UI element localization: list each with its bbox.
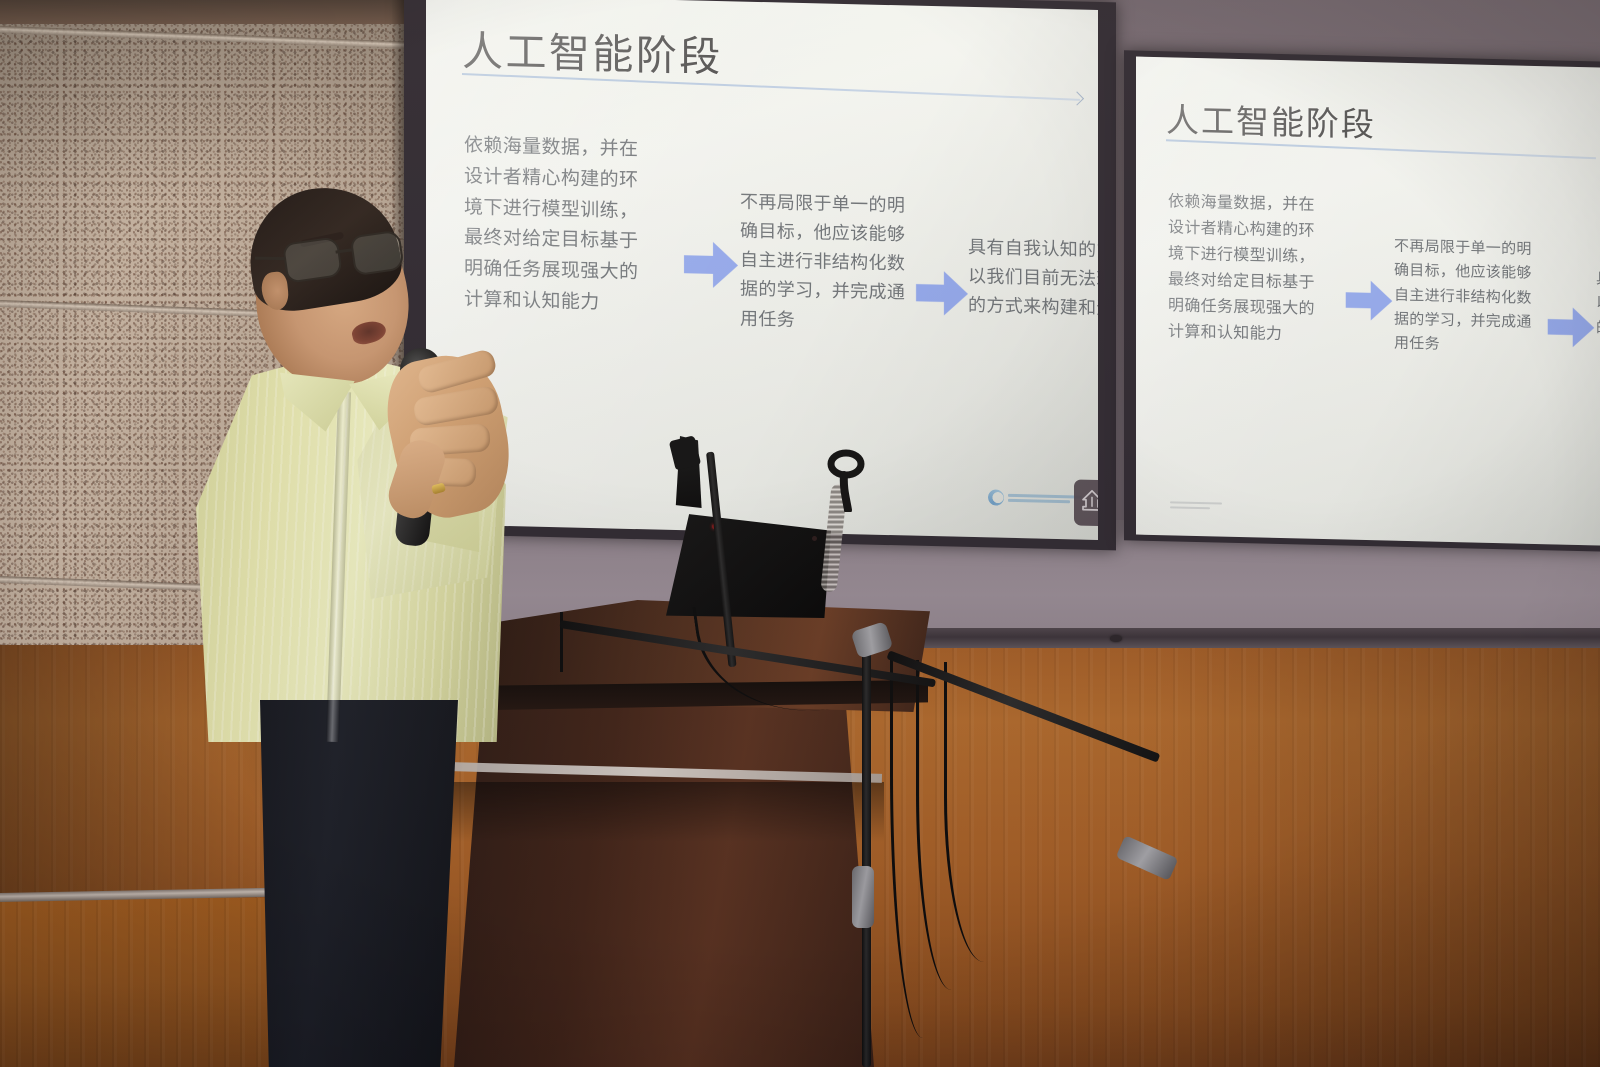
slide-line: 计算和认知能力 — [464, 285, 674, 321]
slide-line: 的方式来构建和运行 — [968, 291, 1098, 325]
laptop-indicator-led — [812, 536, 817, 541]
podium — [454, 688, 874, 1067]
slide-line: 设计者精心构建的环 — [1168, 215, 1344, 245]
slide-line: 依赖海量数据，并在 — [1168, 189, 1344, 219]
arrow-right-icon-1 — [682, 238, 740, 291]
slide-line: 明确任务展现强大的 — [464, 254, 674, 290]
slide-line: 境下进行模型训练， — [464, 193, 674, 229]
gooseneck-mic-loop — [824, 448, 870, 517]
slide-line: 确目标，他应该能够 — [1394, 259, 1570, 287]
speaker-trousers — [238, 700, 458, 1067]
stone-wall-top-shadow — [0, 0, 420, 24]
slide-left: 人工智能阶段 依赖海量数据，并在 设计者精心构建的环 境下进行模型训练， 最终对… — [426, 0, 1098, 540]
slide-title: 人工智能阶段 — [1166, 93, 1376, 146]
arrow-right-icon-2 — [914, 268, 970, 319]
trim-screw — [1110, 635, 1122, 642]
slide-column-3: 具有自我认知的能力， 以我们目前无法理解 的方式来构建和运行 — [968, 233, 1098, 325]
arrow-right-icon-1 — [1344, 277, 1394, 323]
logo-mark-icon — [988, 489, 1004, 505]
mic-stand-clutch — [852, 866, 874, 928]
slide-line: 计算和认知能力 — [1168, 319, 1344, 349]
slide-column-2: 不再局限于单一的明 确目标，他应该能够 自主进行非结构化数 据的学习，并完成通 … — [1394, 235, 1570, 361]
arrow-right-icon-2 — [1546, 304, 1596, 350]
logo-wordmark — [1008, 494, 1082, 504]
podium-shadow — [452, 782, 884, 842]
slide-column-1: 依赖海量数据，并在 设计者精心构建的环 境下进行模型训练， 最终对给定目标基于 … — [464, 131, 674, 321]
slide-line: 明确任务展现强大的 — [1168, 293, 1344, 323]
slide-rule-tick-icon — [1070, 91, 1084, 105]
slide-title-rule — [462, 73, 1080, 101]
corner-badge — [1074, 479, 1098, 526]
slide-column-1: 依赖海量数据，并在 设计者精心构建的环 境下进行模型训练， 最终对给定目标基于 … — [1168, 189, 1344, 349]
organization-logo — [988, 489, 1082, 507]
mic-stand-pole — [862, 652, 871, 1067]
slide-right: 人工智能阶段 依赖海量数据，并在 设计者精心构建的环 境下进行模型训练， 最终对… — [1136, 57, 1600, 546]
eyeglass-temple — [255, 257, 285, 260]
slide-title-rule — [1166, 139, 1596, 159]
slide-line: 设计者精心构建的环 — [464, 162, 674, 198]
slide-line: 境下进行模型训练， — [1168, 241, 1344, 271]
slide-title: 人工智能阶段 — [462, 17, 723, 83]
slide-line: 最终对给定目标基于 — [1168, 267, 1344, 297]
slide-line: 依赖海量数据，并在 — [464, 131, 674, 167]
pagoda-icon — [1080, 489, 1098, 518]
slide-line: 的方式来构建和运行 — [1596, 316, 1600, 344]
presentation-photo: 人工智能阶段 依赖海量数据，并在 设计者精心构建的环 境下进行模型训练， 最终对… — [0, 0, 1600, 1067]
organization-logo — [1170, 501, 1222, 509]
slide-line: 最终对给定目标基于 — [464, 223, 674, 259]
slide-column-3: 具有自我认知的能力， 以我们目前无法理解 的方式来构建和运行 — [1596, 267, 1600, 344]
projection-screen-right: 人工智能阶段 依赖海量数据，并在 设计者精心构建的环 境下进行模型训练， 最终对… — [1124, 50, 1600, 551]
slide-line: 用任务 — [1394, 332, 1570, 360]
